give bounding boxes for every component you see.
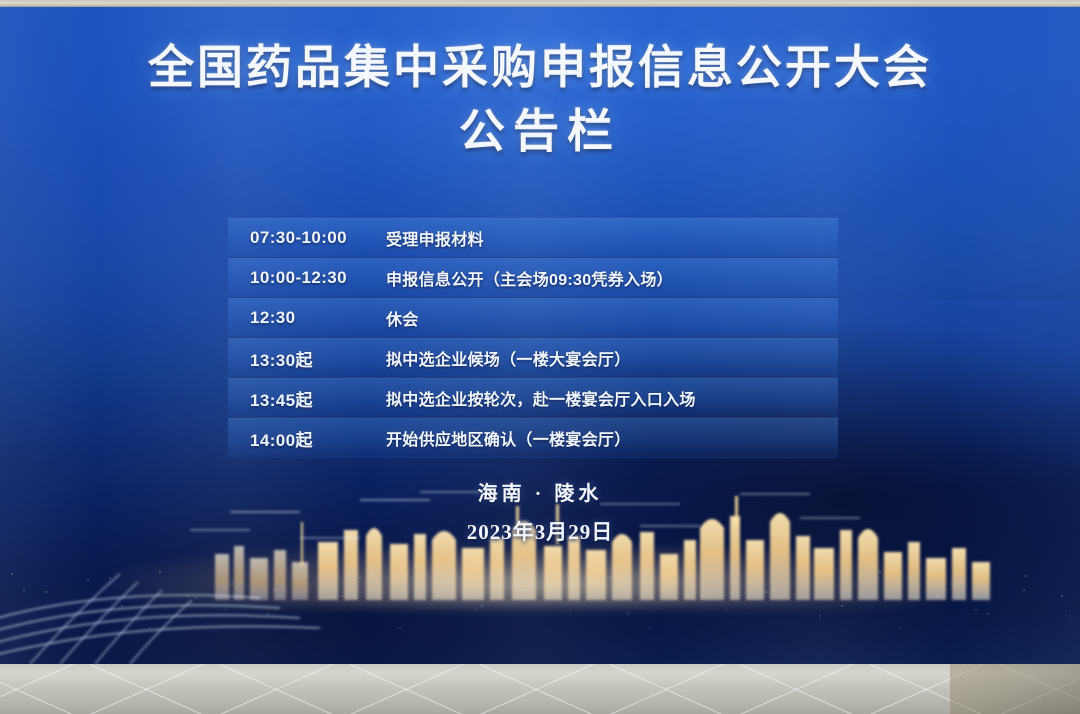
page-title: 全国药品集中采购申报信息公开大会 [0, 40, 1080, 94]
schedule-row-time: 14:00起 [228, 426, 386, 451]
schedule-row: 12:30休会 [228, 298, 838, 338]
footer-block: 海南 · 陵水 2023年3月29日 [0, 477, 1080, 546]
event-location: 海南 · 陵水 [0, 477, 1080, 506]
schedule-row-description: 开始供应地区确认（一楼宴会厅） [386, 426, 631, 450]
particle-field-2 [0, 574, 1080, 638]
floor-grout-line [610, 664, 775, 714]
schedule-row-time: 13:30起 [228, 346, 386, 371]
floor-grout-line [90, 664, 255, 714]
tiled-floor [0, 664, 1080, 714]
schedule-row: 13:45起拟中选企业按轮次，赴一楼宴会厅入口入场 [228, 378, 838, 418]
schedule-row-description: 拟中选企业按轮次，赴一楼宴会厅入口入场 [386, 386, 696, 410]
floor-grout-line [350, 664, 515, 714]
floor-grout-line [740, 664, 905, 714]
schedule-row-description: 休会 [386, 306, 419, 330]
floor-grout-line [740, 664, 905, 714]
floor-grout-line [350, 664, 515, 714]
event-date: 2023年3月29日 [0, 516, 1080, 546]
schedule-row-time: 13:45起 [228, 386, 386, 411]
schedule-row: 07:30-10:00受理申报材料 [228, 218, 838, 258]
schedule-row-description: 受理申报材料 [386, 226, 484, 250]
floor-grout-line [480, 664, 645, 714]
schedule-row: 13:30起拟中选企业候场（一楼大宴会厅） [228, 338, 838, 378]
schedule-row-time: 07:30-10:00 [228, 228, 386, 248]
floor-right-corner [950, 664, 1080, 714]
schedule-row-description: 申报信息公开（主会场09:30凭券入场） [386, 266, 673, 290]
page-subtitle: 公告栏 [0, 106, 1080, 157]
floor-grout-line [220, 664, 385, 714]
conference-backdrop-photo: 全国药品集中采购申报信息公开大会 公告栏 07:30-10:00受理申报材料10… [0, 0, 1080, 714]
title-block: 全国药品集中采购申报信息公开大会 公告栏 [0, 40, 1080, 157]
floor-grout-line [90, 664, 255, 714]
schedule-list: 07:30-10:00受理申报材料10:00-12:30申报信息公开（主会场09… [228, 218, 838, 458]
floor-grout-line [220, 664, 385, 714]
schedule-row: 10:00-12:30申报信息公开（主会场09:30凭券入场） [228, 258, 838, 298]
floor-grout-line [610, 664, 775, 714]
schedule-row-description: 拟中选企业候场（一楼大宴会厅） [386, 346, 631, 370]
schedule-row-time: 10:00-12:30 [228, 268, 386, 288]
schedule-row-time: 12:30 [228, 308, 386, 328]
floor-grout-line [480, 664, 645, 714]
schedule-row: 14:00起开始供应地区确认（一楼宴会厅） [228, 418, 838, 458]
